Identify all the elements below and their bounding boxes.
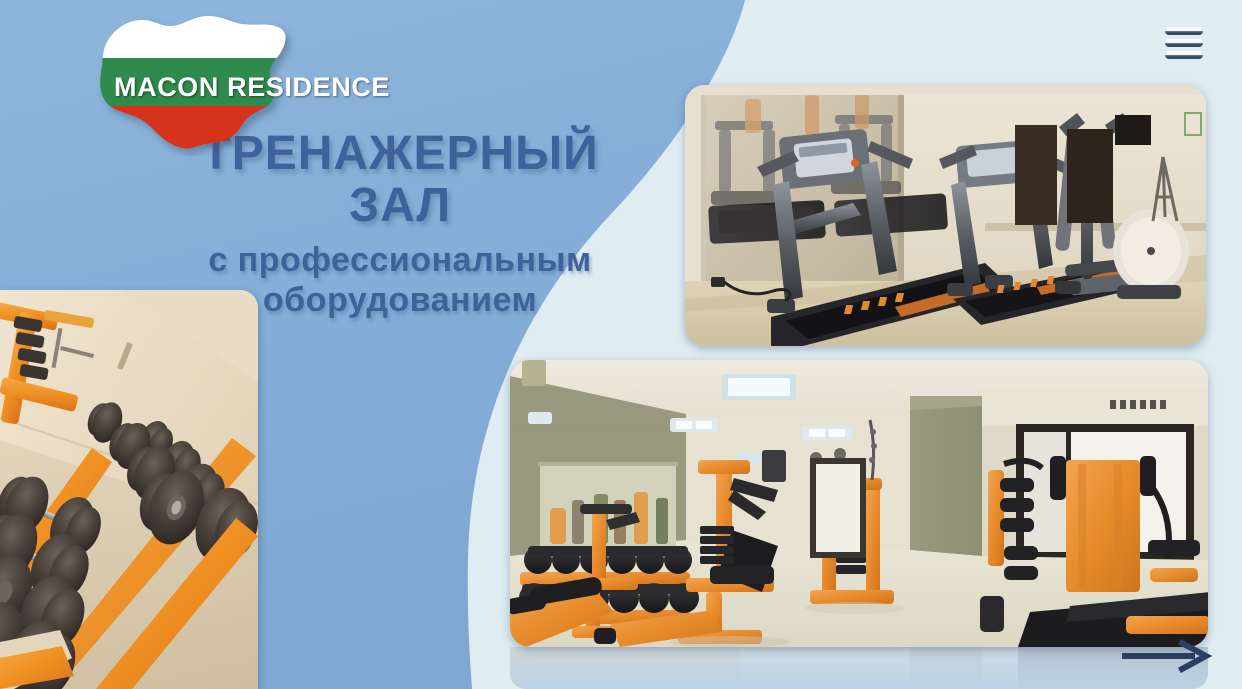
hamburger-menu-icon[interactable]	[1162, 22, 1206, 64]
headline-line-2: ЗАЛ	[120, 180, 680, 232]
photo-treadmills[interactable]	[685, 85, 1206, 346]
photo-gym-hall[interactable]	[510, 360, 1208, 647]
headline-line-3: с профессиональным	[120, 240, 680, 280]
page-title: ТРЕНАЖЕРНЫЙ ЗАЛ с профессиональным обору…	[120, 128, 680, 320]
photo-dumbbell-rack[interactable]	[0, 290, 258, 689]
logo-brand-text: MACON RESIDENCE	[114, 72, 390, 103]
arrow-right-icon[interactable]	[1122, 639, 1212, 673]
slide-stage: MACON RESIDENCE ТРЕНАЖЕРНЫЙ ЗАЛ с профес…	[0, 0, 1242, 689]
headline-line-4: оборудованием	[120, 280, 680, 320]
logo[interactable]: MACON RESIDENCE	[72, 6, 442, 156]
photo-reflection	[510, 647, 1208, 689]
